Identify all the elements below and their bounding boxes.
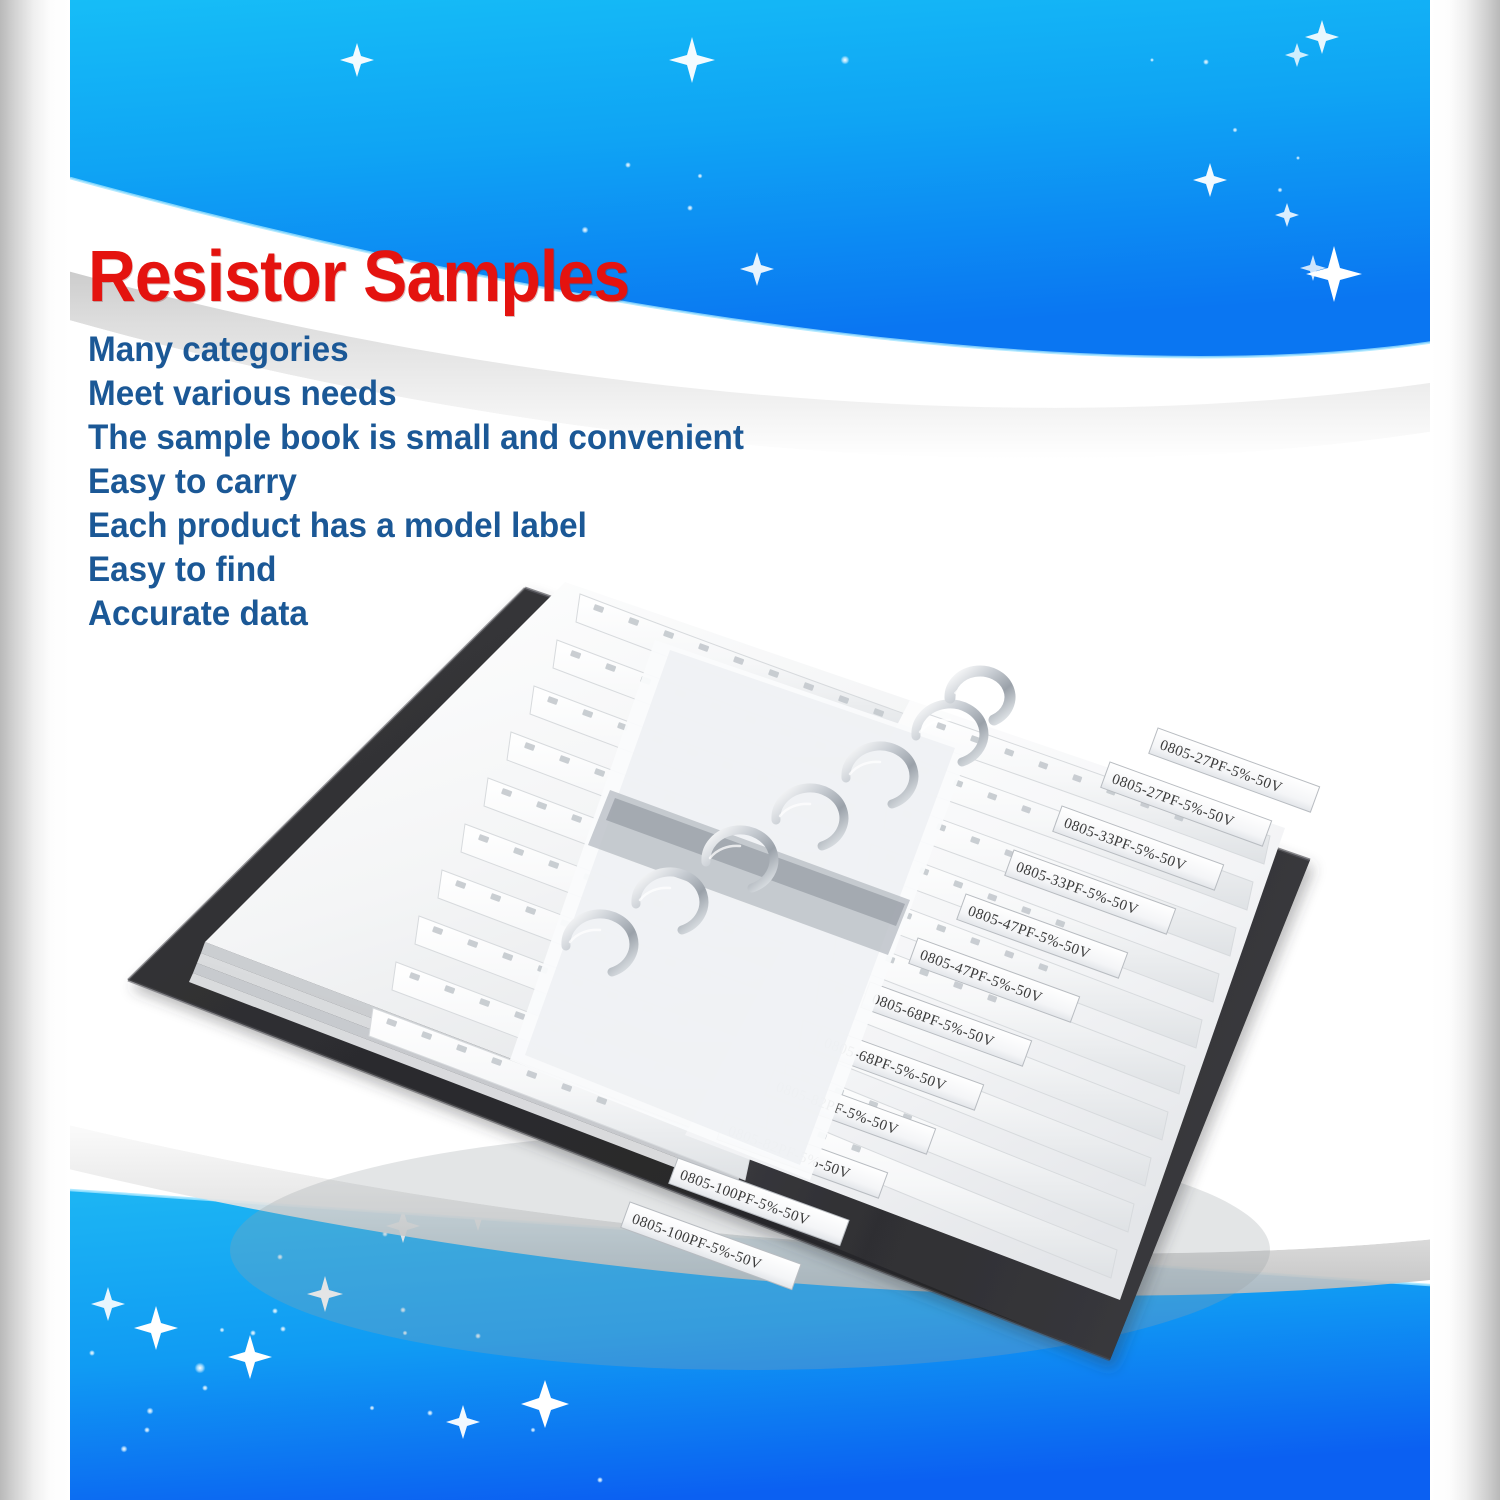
feature-list: Many categories Meet various needs The s… <box>88 328 778 636</box>
headline-block: Resistor Samples Many categories Meet va… <box>88 238 778 636</box>
feature-item: Easy to find <box>88 548 744 592</box>
feature-item: Easy to carry <box>88 460 744 504</box>
marketing-banner: 0805-27PF-5%-50V 0805-27PF-5%-50V 0805-3… <box>0 0 1500 1500</box>
product-photo: 0805-27PF-5%-50V 0805-27PF-5%-50V 0805-3… <box>110 560 1400 1390</box>
feature-item: Meet various needs <box>88 372 744 416</box>
feature-item: Each product has a model label <box>88 504 744 548</box>
feature-item: Accurate data <box>88 592 744 636</box>
sample-book-illustration: 0805-27PF-5%-50V 0805-27PF-5%-50V 0805-3… <box>110 560 1400 1390</box>
page-title: Resistor Samples <box>88 238 723 316</box>
feature-item: The sample book is small and convenient <box>88 416 744 460</box>
feature-item: Many categories <box>88 328 744 372</box>
